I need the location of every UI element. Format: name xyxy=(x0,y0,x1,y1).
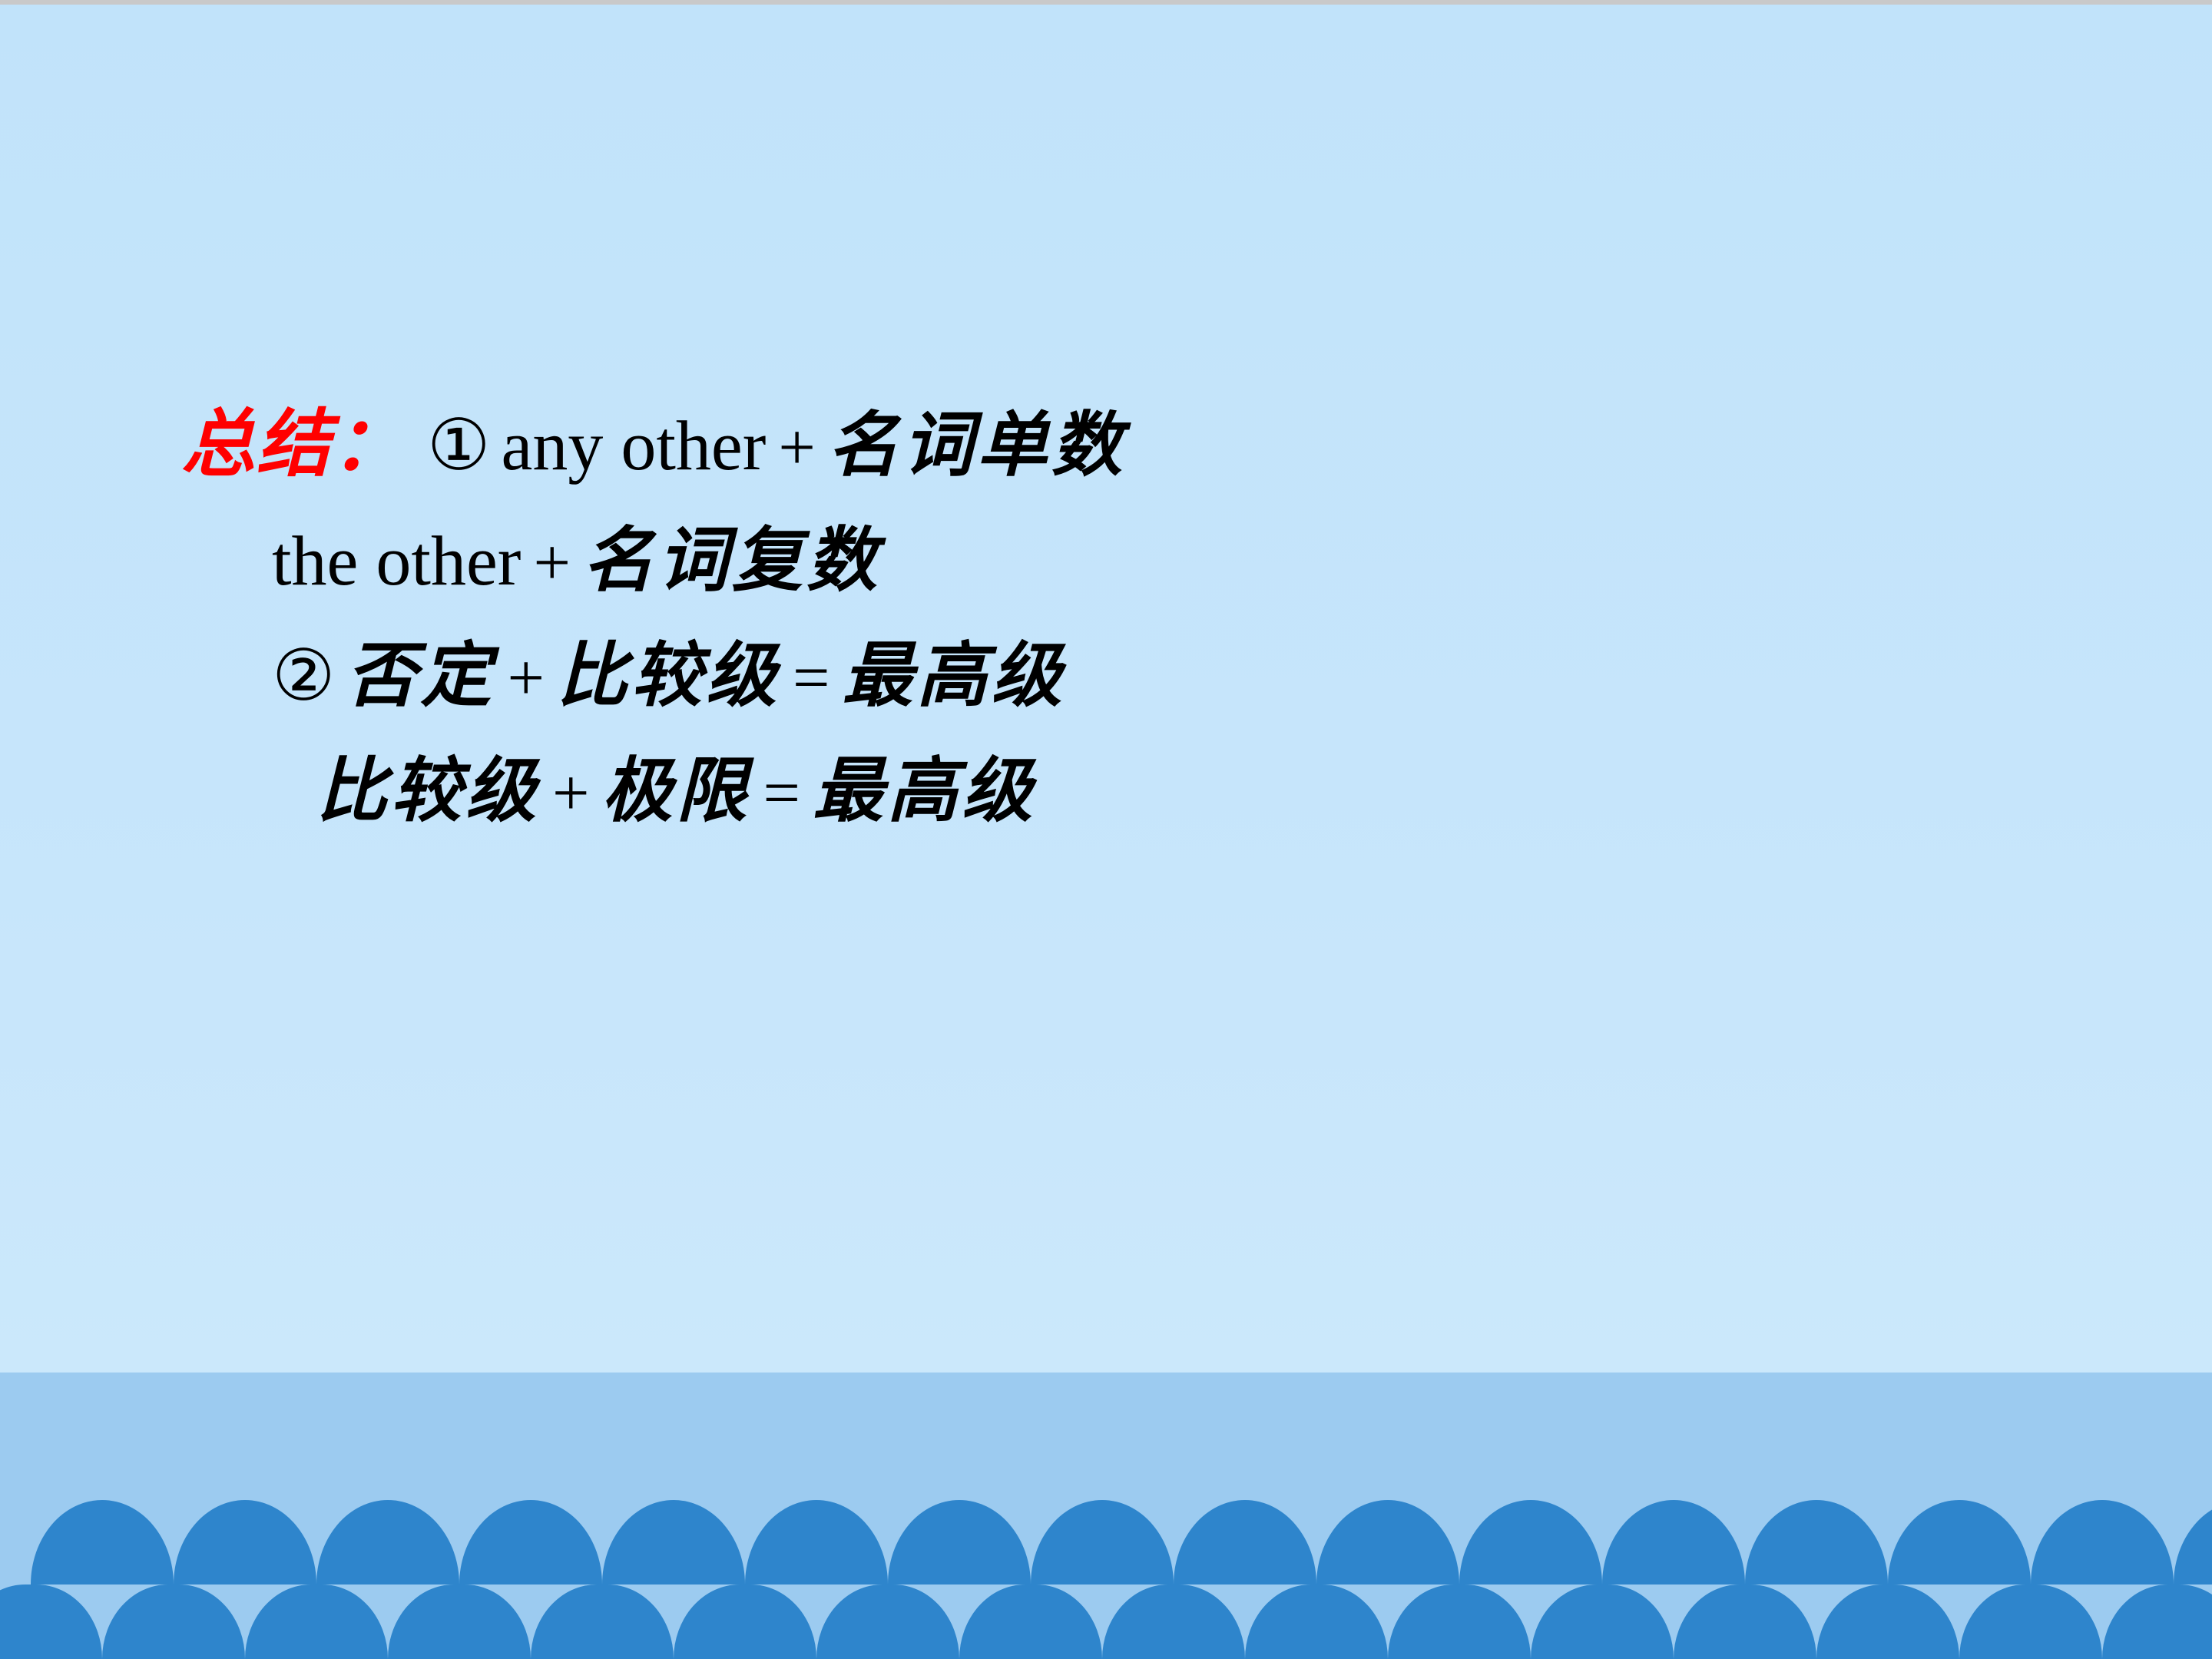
top-grey-strip xyxy=(0,0,2212,5)
dome-shape xyxy=(1959,1584,2102,1659)
dome-shape xyxy=(1888,1500,2031,1584)
dome-shape xyxy=(174,1500,316,1584)
dome-row-upper xyxy=(0,1500,2212,1584)
dome-shape xyxy=(1174,1500,1316,1584)
dome-shape xyxy=(1816,1584,1959,1659)
line4-right-term: 最高级 xyxy=(813,756,1036,826)
summary-line-3: ② 否定 + 比较级 = 最高级 xyxy=(181,641,1717,711)
dome-row-lower xyxy=(0,1584,2212,1659)
dome-shape xyxy=(1602,1500,1745,1584)
dome-shape xyxy=(1459,1500,1602,1584)
dome-shape xyxy=(31,1500,174,1584)
line1-english-phrase: any other xyxy=(501,410,766,481)
circled-number-two-icon: ② xyxy=(272,641,335,711)
dome-shape xyxy=(102,1584,245,1659)
summary-line-1: 总结： ① any other + 名词单数 xyxy=(181,407,1717,481)
dome-shape xyxy=(388,1584,531,1659)
dome-shape xyxy=(888,1500,1031,1584)
dome-shape xyxy=(674,1584,816,1659)
line2-plus-operator: + xyxy=(521,529,583,595)
line3-equals-operator: = xyxy=(780,644,843,710)
line4-equals-operator: = xyxy=(751,760,813,826)
dome-shape xyxy=(1388,1584,1531,1659)
summary-line-2: the other + 名词复数 xyxy=(181,525,1717,596)
dome-shape xyxy=(531,1584,674,1659)
dome-shape xyxy=(1745,1500,1888,1584)
dome-shape xyxy=(2031,1500,2174,1584)
line3-plus-operator: + xyxy=(495,644,558,710)
dome-shape xyxy=(1674,1584,1816,1659)
line4-left-term: 比较级 xyxy=(316,756,540,826)
dome-shape xyxy=(745,1500,888,1584)
dome-shape xyxy=(1531,1584,1674,1659)
line3-middle-term: 比较级 xyxy=(557,641,780,711)
dome-shape xyxy=(459,1500,602,1584)
dome-shape xyxy=(2102,1584,2212,1659)
slide-canvas: 总结： ① any other + 名词单数 the other + 名词复数 … xyxy=(0,0,2212,1659)
dome-shape xyxy=(1245,1584,1388,1659)
line2-english-phrase: the other xyxy=(272,525,521,596)
line4-middle-term: 极限 xyxy=(602,756,751,826)
line2-chinese-term: 名词复数 xyxy=(583,525,881,596)
dome-shape xyxy=(1316,1500,1459,1584)
summary-line-4: 比较级 + 极限 = 最高级 xyxy=(181,756,1717,826)
dome-shape xyxy=(316,1500,459,1584)
dome-shape xyxy=(959,1584,1102,1659)
dome-shape xyxy=(602,1500,745,1584)
dome-shape xyxy=(1031,1500,1174,1584)
dome-shape xyxy=(1102,1584,1245,1659)
line4-plus-operator: + xyxy=(540,760,602,826)
line1-chinese-term: 名词单数 xyxy=(828,410,1126,481)
summary-text-block: 总结： ① any other + 名词单数 the other + 名词复数 … xyxy=(181,407,1717,826)
circled-number-one-icon: ① xyxy=(427,410,490,481)
dome-shape xyxy=(245,1584,388,1659)
line3-right-term: 最高级 xyxy=(843,641,1066,711)
dome-shape xyxy=(816,1584,959,1659)
summary-label: 总结： xyxy=(181,407,407,481)
dome-shape xyxy=(0,1584,102,1659)
dome-shape xyxy=(2174,1500,2212,1584)
line1-plus-operator: + xyxy=(766,414,828,480)
line3-left-term: 否定 xyxy=(346,641,495,711)
